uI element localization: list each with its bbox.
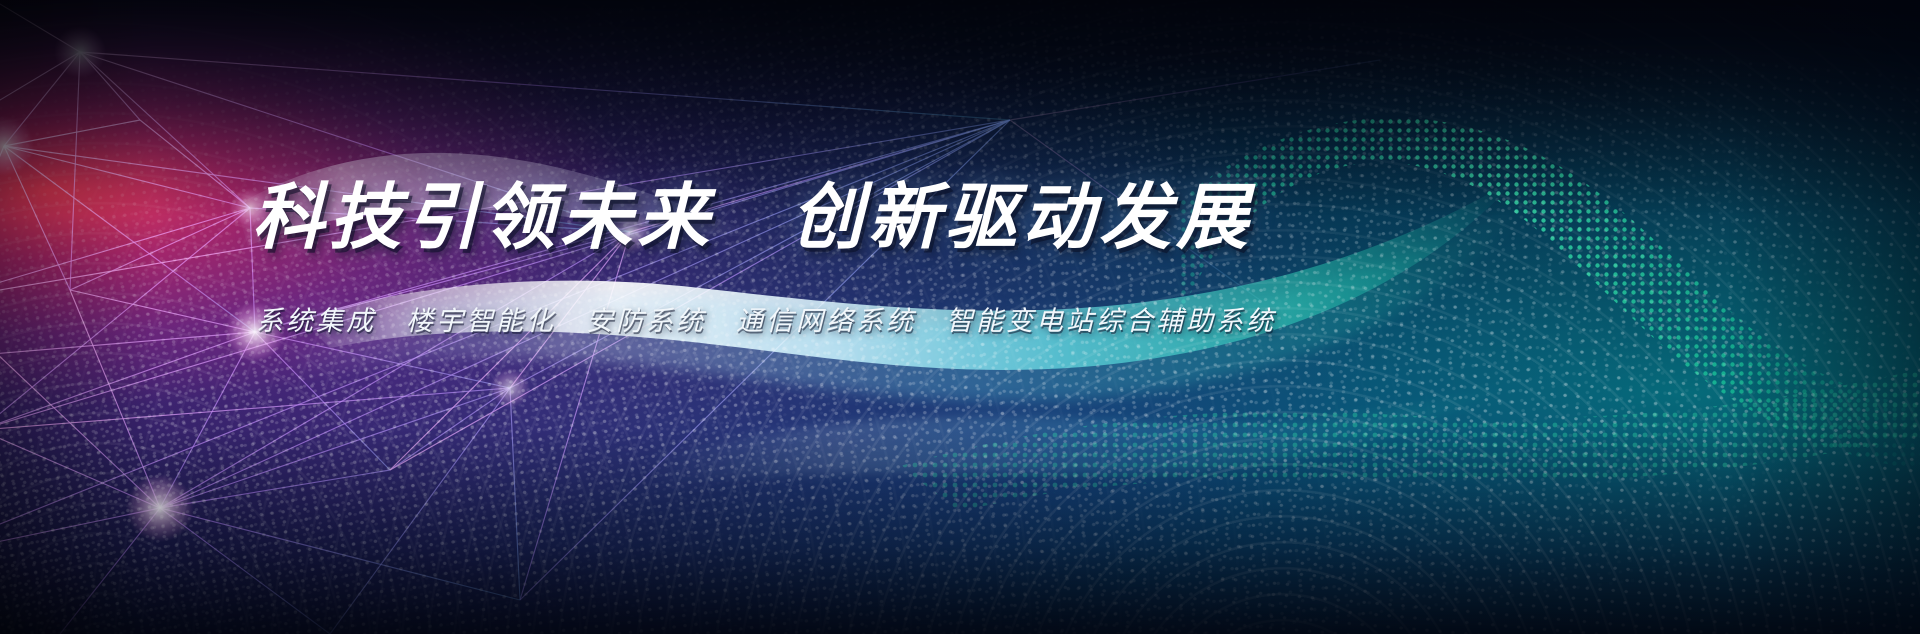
banner-subheadline: 系统集成 楼宇智能化 安防系统 通信网络系统 智能变电站综合辅助系统: [256, 299, 1652, 338]
banner-text-block: 科技引领未来 创新驱动发展 系统集成 楼宇智能化 安防系统 通信网络系统 智能变…: [252, 182, 1652, 338]
hero-banner: 科技引领未来 创新驱动发展 系统集成 楼宇智能化 安防系统 通信网络系统 智能变…: [0, 0, 1920, 634]
banner-headline: 科技引领未来 创新驱动发展: [252, 182, 1652, 255]
